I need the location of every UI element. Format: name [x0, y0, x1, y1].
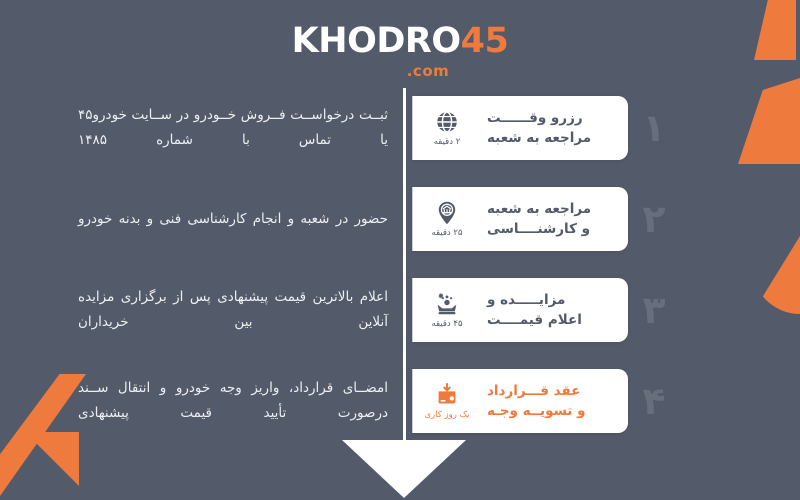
step-title-line2-4: و تسویــه وجـه: [487, 401, 585, 421]
step-card-1[interactable]: رزرو وقــــــت مراجعه به شعبه ۲ دقیقه: [412, 96, 628, 160]
decorative-triangle-bottom-left: [25, 432, 79, 486]
step-title-line2-2: و کارشنــــاسی: [487, 219, 590, 239]
step-card-side-1: ۲ دقیقه: [412, 96, 481, 160]
wallet-deposit-icon: [434, 382, 460, 408]
step-card-title-4: عقد قـــرارداد و تسویــه وجـه: [481, 369, 628, 433]
step-card-2[interactable]: مراجعه به شعبه و کارشنــــاسی ۲۵ دقیقه: [412, 187, 628, 251]
logo-khodro-text: KHODRO: [292, 21, 461, 61]
auction-award-icon: [434, 291, 460, 317]
step-card-side-2: ۲۵ دقیقه: [412, 187, 481, 251]
step-row-3: اعلام بالاترین قیمت پیشنهادی پس از برگزا…: [0, 274, 800, 346]
step-description-2: حضور در شعبه و انجام کارشناسی فنی و بدنه…: [78, 207, 388, 232]
step-title-line1-4: عقد قـــرارداد: [487, 381, 580, 401]
timeline-arrow-icon: [342, 440, 466, 498]
step-description-1: ثبــت درخواســت فــروش خــودرو در ســایت…: [78, 103, 388, 153]
step-row-2: حضور در شعبه و انجام کارشناسی فنی و بدنه…: [0, 183, 800, 255]
step-duration-4: یک روز کاری: [424, 410, 469, 420]
step-description-4: امضــای قرارداد، واریز وجه خودرو و انتقا…: [78, 376, 388, 426]
step-row-4: امضــای قرارداد، واریز وجه خودرو و انتقا…: [0, 365, 800, 437]
step-row-1: ثبــت درخواســت فــروش خــودرو در ســایت…: [0, 92, 800, 164]
logo-domain-suffix: .com: [56, 62, 800, 80]
step-number-3: ۳: [634, 278, 674, 342]
step-duration-3: ۴۵ دقیقه: [431, 319, 462, 329]
infographic-canvas: KHODRO45 .com ثبــت درخواســت فــروش خــ…: [0, 0, 800, 500]
step-title-line1-1: رزرو وقــــــت: [487, 108, 583, 128]
step-card-4[interactable]: عقد قـــرارداد و تسویــه وجـه یک روز کار…: [412, 369, 628, 433]
step-description-3: اعلام بالاترین قیمت پیشنهادی پس از برگزا…: [78, 285, 388, 335]
step-number-1: ۱: [634, 96, 674, 160]
logo-45-text: 45: [461, 21, 509, 61]
step-card-side-4: یک روز کاری: [412, 369, 481, 433]
step-number-4: ۴: [634, 369, 674, 433]
step-duration-2: ۲۵ دقیقه: [431, 228, 462, 238]
step-card-title-2: مراجعه به شعبه و کارشنــــاسی: [481, 187, 628, 251]
step-title-line2-3: اعلام قیمــــت: [487, 310, 582, 330]
step-title-line2-1: مراجعه به شعبه: [487, 128, 591, 148]
step-card-title-1: رزرو وقــــــت مراجعه به شعبه: [481, 96, 628, 160]
step-number-2: ۲: [634, 187, 674, 251]
step-card-title-3: مزایـــــده و اعلام قیمــــت: [481, 278, 628, 342]
step-duration-1: ۲ دقیقه: [434, 137, 461, 147]
step-title-line1-3: مزایـــــده و: [487, 290, 565, 310]
globe-icon: [434, 109, 460, 135]
step-title-line1-2: مراجعه به شعبه: [487, 199, 591, 219]
logo-wordmark: KHODRO45: [0, 24, 800, 59]
step-card-side-3: ۴۵ دقیقه: [412, 278, 481, 342]
step-card-3[interactable]: مزایـــــده و اعلام قیمــــت ۴۵ دقیقه: [412, 278, 628, 342]
location-pin-bank-icon: [434, 200, 460, 226]
brand-logo: KHODRO45 .com: [0, 24, 800, 80]
